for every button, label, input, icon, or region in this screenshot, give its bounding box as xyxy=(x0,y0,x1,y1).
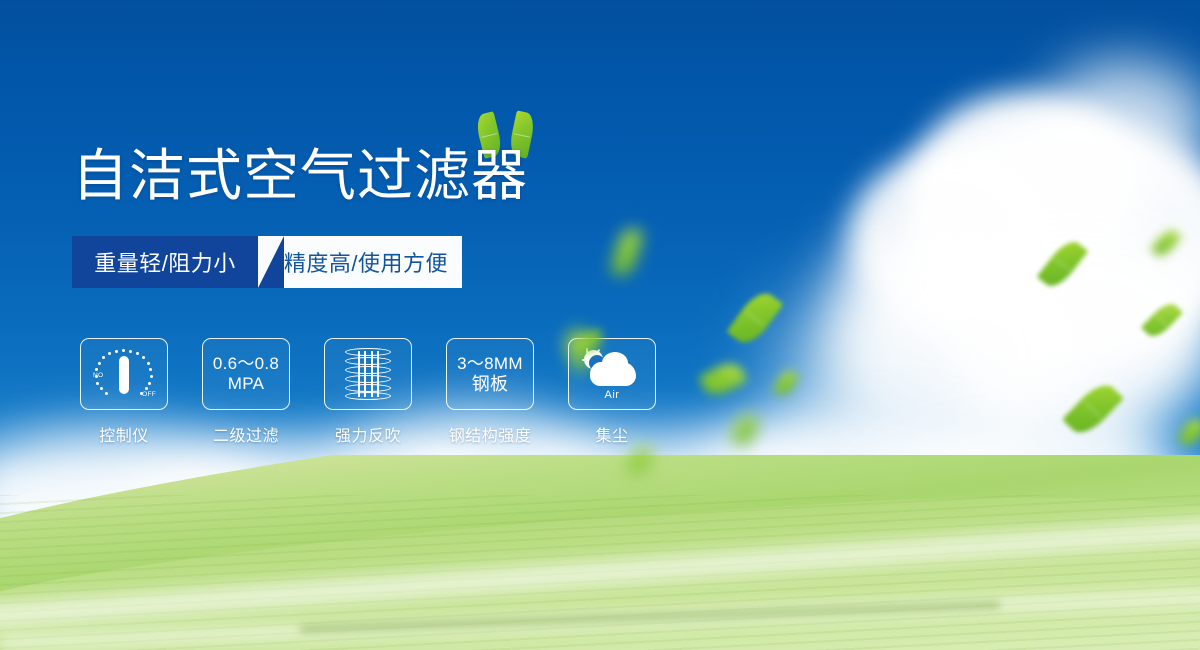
subtitle-bar: 重量轻/阻力小 精度高/使用方便 xyxy=(72,236,462,288)
pressure-unit-text: MPA xyxy=(228,374,264,394)
feature-label: 二级过滤 xyxy=(213,422,279,446)
feature-label: 强力反吹 xyxy=(335,422,401,446)
leaf-vein xyxy=(482,133,497,138)
leaf-vein xyxy=(1084,401,1101,418)
feature-label: 钢结构强度 xyxy=(449,422,532,446)
leaf-vein xyxy=(745,311,764,325)
subtitle-right: 精度高/使用方便 xyxy=(258,236,462,288)
disc-stack-icon xyxy=(345,348,391,400)
subtitle-left: 重量轻/阻力小 xyxy=(72,236,258,288)
feature-label: 控制仪 xyxy=(99,422,149,446)
thickness-range-text: 3～8MM xyxy=(457,354,523,374)
leaf-vein xyxy=(1156,315,1168,326)
air-label: Air xyxy=(605,389,620,401)
feature-icon-box xyxy=(324,338,412,410)
gauge-label-off: OFF xyxy=(142,391,156,398)
feature-back-blow[interactable]: 强力反吹 xyxy=(324,338,412,446)
feature-icon-box: 3～8MM 钢板 xyxy=(446,338,534,410)
gauge-label-on: NO xyxy=(93,372,103,379)
hero-banner: 自洁式空气过滤器 重量轻/阻力小 精度高/使用方便 xyxy=(0,0,1200,650)
grass-field xyxy=(0,455,1200,650)
pressure-range-text: 0.6～0.8 xyxy=(213,354,279,374)
feature-steel-strength[interactable]: 3～8MM 钢板 钢结构强度 xyxy=(446,338,534,446)
gauge-needle xyxy=(119,356,129,394)
leaf-vein xyxy=(1054,258,1070,270)
steel-plate-text: 钢板 xyxy=(472,374,509,394)
feature-two-stage-filter[interactable]: 0.6～0.8 MPA 二级过滤 xyxy=(202,338,290,446)
leaf-vein xyxy=(514,133,529,137)
feature-icon-box: 0.6～0.8 MPA xyxy=(202,338,290,410)
feature-controller[interactable]: NO OFF 控制仪 xyxy=(80,338,168,446)
page-title: 自洁式空气过滤器 xyxy=(72,144,528,208)
feature-list: NO OFF 控制仪 0.6～0.8 MPA 二级过滤 xyxy=(80,338,656,446)
cloud-body xyxy=(590,362,636,386)
cloud-sun-icon xyxy=(582,348,642,388)
feature-icon-box: NO OFF xyxy=(80,338,168,410)
feature-dust-collection[interactable]: Air 集尘 xyxy=(568,338,656,446)
gauge-icon: NO OFF xyxy=(94,347,154,401)
feature-label: 集尘 xyxy=(595,422,628,446)
